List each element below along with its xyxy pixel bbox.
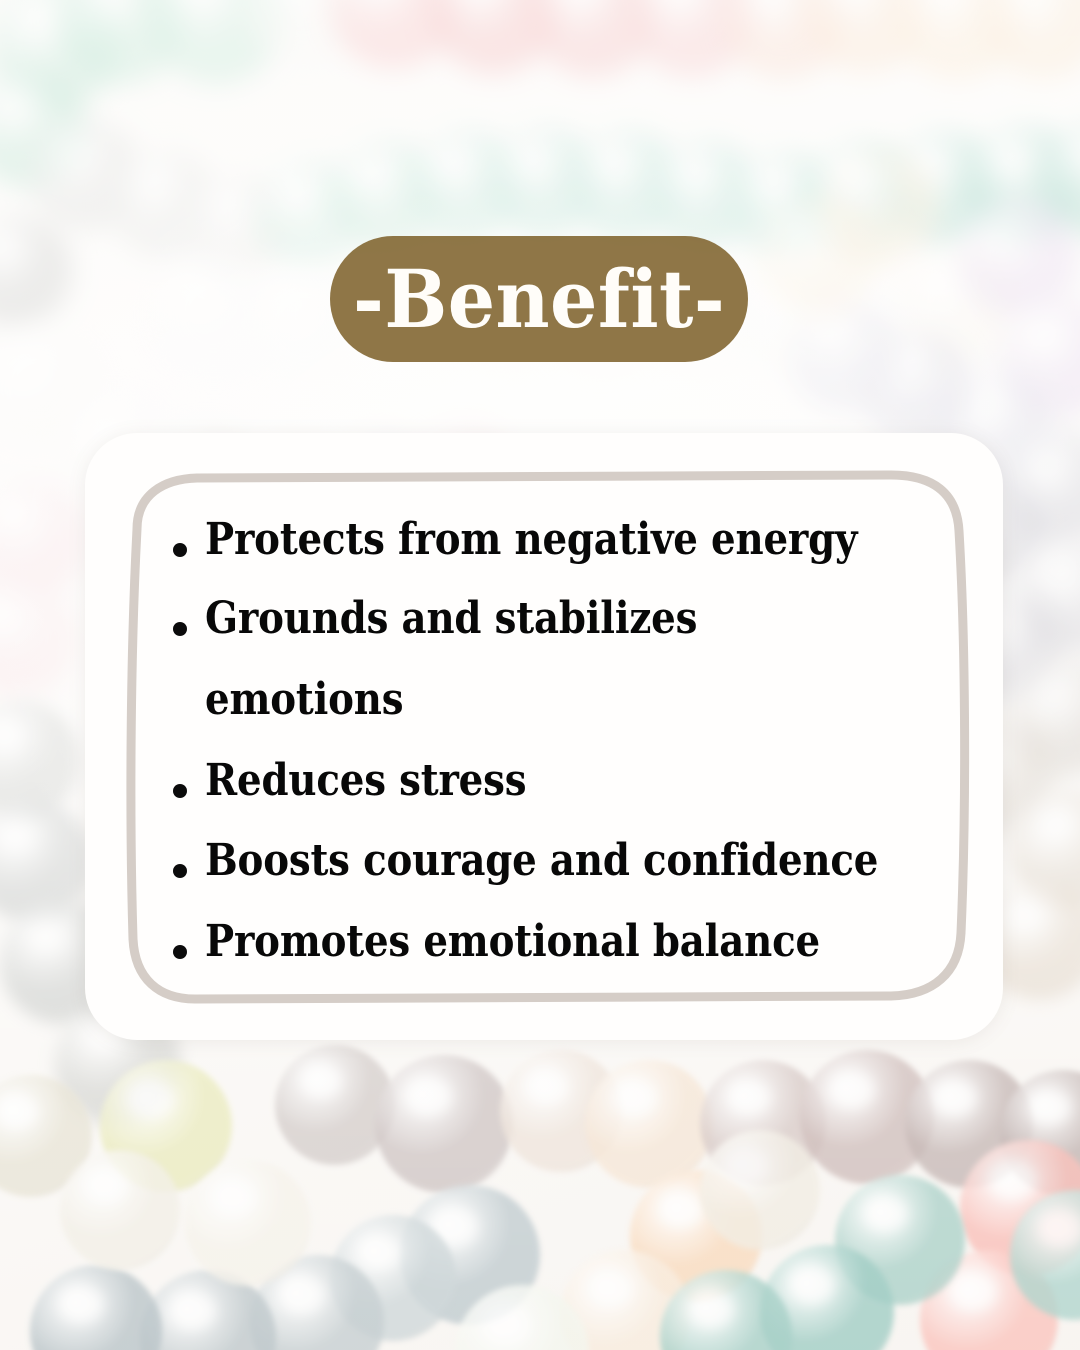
poster-canvas: -Benefit- Protects from negative energyG… <box>0 0 1080 1350</box>
bullet-dot-icon <box>173 945 187 959</box>
benefit-title-badge: -Benefit- <box>330 236 748 362</box>
bullet-dot-icon <box>173 864 187 878</box>
bullet-dot-icon <box>173 543 187 557</box>
benefits-list: Protects from negative energyGrounds and… <box>85 433 1003 1040</box>
benefit-text: Boosts courage and confidence <box>205 838 878 885</box>
bullet-dot-icon <box>173 784 187 798</box>
benefit-list-item: Reduces stress <box>173 758 570 805</box>
benefit-text: emotions <box>205 677 403 724</box>
benefit-list-item: Protects from negative energy <box>173 517 946 564</box>
benefit-list-item: Boosts courage and confidence <box>173 838 970 885</box>
benefit-list-item-continuation: emotions <box>173 677 430 724</box>
benefit-title-label: -Benefit- <box>353 259 725 339</box>
benefit-list-item: Promotes emotional balance <box>173 919 904 966</box>
bullet-dot-icon <box>173 622 187 636</box>
benefit-text: Protects from negative energy <box>205 517 857 564</box>
benefit-text: Reduces stress <box>205 758 526 805</box>
benefit-list-item: Grounds and stabilizes <box>173 596 764 643</box>
benefits-card: Protects from negative energyGrounds and… <box>85 433 1003 1040</box>
benefit-text: Promotes emotional balance <box>205 919 820 966</box>
benefit-text: Grounds and stabilizes <box>205 596 697 643</box>
